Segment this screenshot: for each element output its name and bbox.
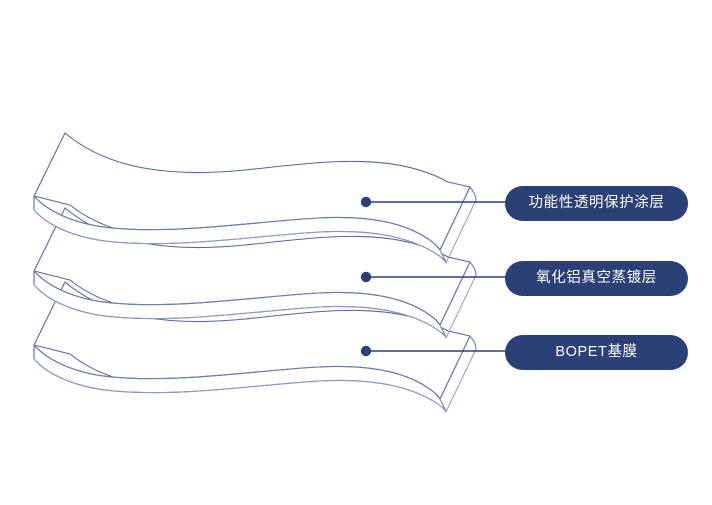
layer-bottom-fold-cap (470, 336, 476, 349)
callout-pill-protective-coating[interactable]: 功能性透明保护涂层 (505, 186, 688, 221)
leader-dot-top (361, 197, 371, 207)
diagram-canvas: 功能性透明保护涂层 氧化铝真空蒸镀层 BOPET基膜 (0, 0, 712, 505)
callout-pill-alumina-coating[interactable]: 氧化铝真空蒸镀层 (505, 261, 688, 296)
callout-label-alumina-coating: 氧化铝真空蒸镀层 (536, 271, 657, 286)
leader-dot-middle (361, 272, 371, 282)
layer-middle-fold-cap (470, 262, 476, 275)
callout-pill-bopet-base-film[interactable]: BOPET基膜 (505, 335, 688, 370)
layer-stack-illustration (0, 0, 712, 505)
layer-top-fold-cap (470, 187, 476, 200)
leader-dot-bottom (361, 346, 371, 356)
callout-label-bopet-base-film: BOPET基膜 (555, 345, 637, 360)
callout-label-protective-coating: 功能性透明保护涂层 (529, 196, 665, 211)
